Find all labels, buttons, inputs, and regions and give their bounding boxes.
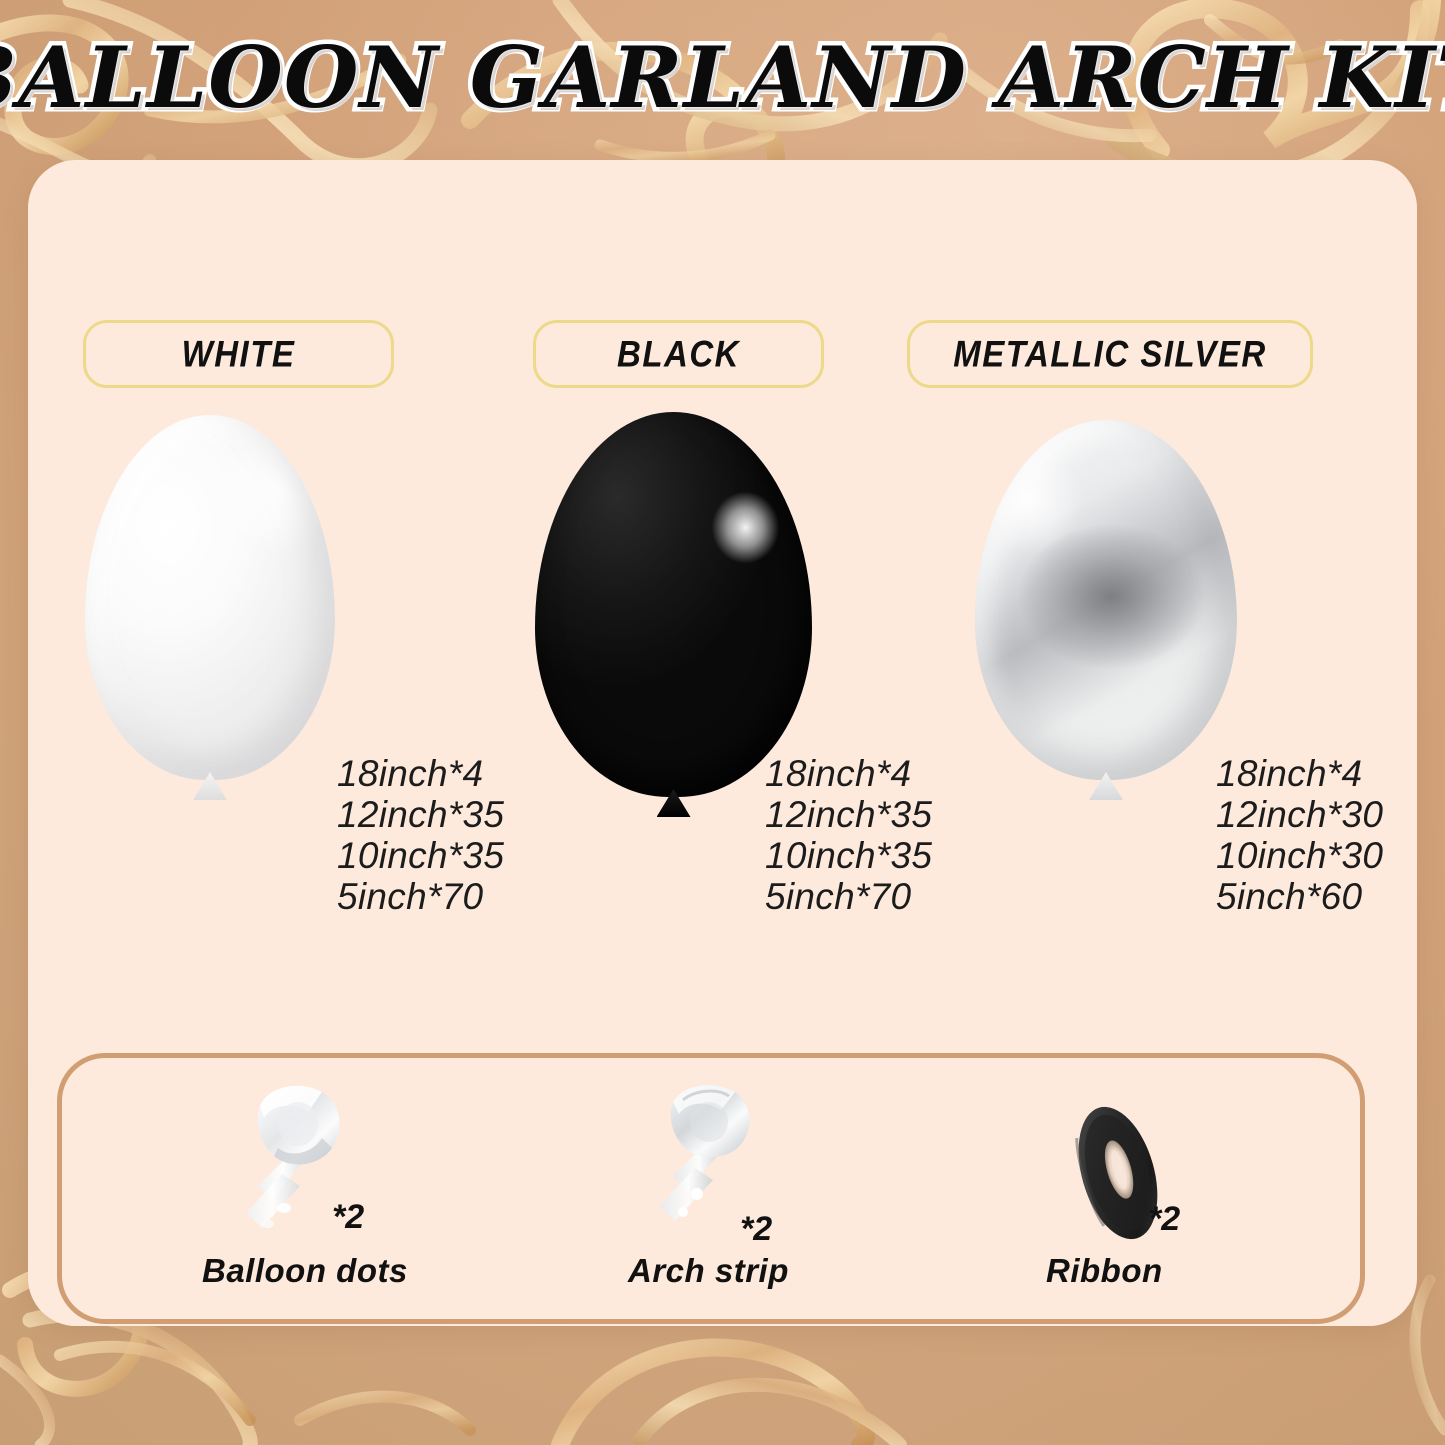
spec-list-white: 18inch*4 12inch*35 10inch*35 5inch*70 (337, 753, 504, 917)
spec-line: 10inch*35 (765, 835, 932, 876)
accessory-name-balloon-dots: Balloon dots (202, 1252, 408, 1290)
color-label-silver: METALLIC SILVER (907, 320, 1313, 388)
balloon-icon-black (535, 412, 812, 797)
spec-line: 18inch*4 (765, 753, 932, 794)
spec-line: 10inch*35 (337, 835, 504, 876)
color-label-white-text: WHITE (182, 333, 296, 376)
balloon-body-white (85, 415, 335, 780)
accessory-qty-arch-strip: *2 (740, 1210, 772, 1249)
balloon-body-black (535, 412, 812, 797)
spec-line: 12inch*35 (337, 794, 504, 835)
balloon-icon-silver (975, 420, 1237, 780)
spec-line: 5inch*60 (1216, 876, 1383, 917)
spec-line: 12inch*35 (765, 794, 932, 835)
accessory-qty-balloon-dots: *2 (332, 1198, 364, 1237)
color-label-black-text: BLACK (617, 333, 740, 376)
accessory-qty-ribbon: *2 (1148, 1200, 1180, 1239)
spec-list-black: 18inch*4 12inch*35 10inch*35 5inch*70 (765, 753, 932, 917)
spec-line: 18inch*4 (337, 753, 504, 794)
spec-line: 5inch*70 (765, 876, 932, 917)
balloon-icon-white (85, 415, 335, 780)
accessory-name-arch-strip: Arch strip (628, 1252, 789, 1290)
accessory-name-ribbon: Ribbon (1046, 1252, 1163, 1290)
balloon-knot-black (657, 789, 691, 817)
balloon-body-silver (975, 420, 1237, 780)
color-label-silver-text: METALLIC SILVER (953, 333, 1266, 376)
balloon-knot-silver (1089, 772, 1123, 800)
spec-list-silver: 18inch*4 12inch*30 10inch*30 5inch*60 (1216, 753, 1383, 917)
infographic-canvas: BALLOON GARLAND ARCH KIT WHITE BLACK MET… (0, 0, 1445, 1445)
spec-line: 10inch*30 (1216, 835, 1383, 876)
balloon-knot-white (193, 772, 227, 800)
spec-line: 5inch*70 (337, 876, 504, 917)
spec-line: 12inch*30 (1216, 794, 1383, 835)
color-label-white: WHITE (83, 320, 394, 388)
color-label-black: BLACK (533, 320, 824, 388)
spec-line: 18inch*4 (1216, 753, 1383, 794)
